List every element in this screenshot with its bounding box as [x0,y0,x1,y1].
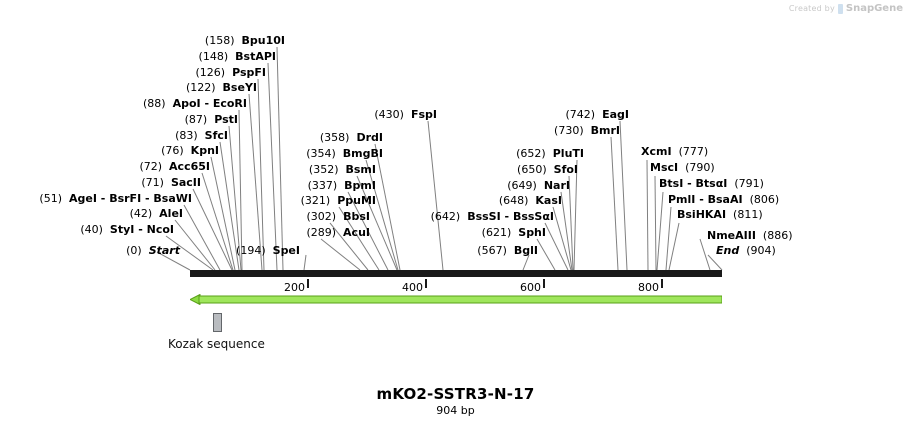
site-position: (790) [685,161,715,174]
site-label-bpmi[interactable]: (337)BpmI [308,180,376,192]
enzyme-name: BsmI [346,163,377,176]
enzyme-name: SphI [518,226,546,239]
site-label-bsmi[interactable]: (352)BsmI [309,164,376,176]
enzyme-name: NcoI [147,223,174,236]
site-label-pspfi[interactable]: (126)PspFI [196,67,267,79]
site-label-start[interactable]: (0)Start [126,245,180,257]
site-position: (0) [126,244,142,257]
site-position: (148) [199,50,229,63]
site-label-bstapi[interactable]: (148)BstAPI [199,51,276,63]
site-label-btsi-btsai[interactable]: BtsI - BtsαI(791) [659,178,764,190]
enzyme-name: SacII [171,176,201,189]
site-label-nmeaiii[interactable]: NmeAIII(886) [707,230,793,242]
enzyme-name: PspFI [232,66,266,79]
site-position: (51) [39,192,62,205]
enzyme-separator: - [141,192,153,205]
site-position: (886) [763,229,793,242]
site-position: (354) [306,147,336,160]
ruler-label-200: 200 [284,281,305,294]
enzyme-name: PmlI [668,193,695,206]
site-position: (358) [320,131,350,144]
end-marker-label: End [716,244,739,257]
enzyme-separator: - [683,177,695,190]
enzyme-name: BpmI [344,179,376,192]
enzyme-separator: - [695,193,707,206]
watermark-brand: SnapGene [846,3,903,14]
site-position: (72) [139,160,162,173]
enzyme-name: EagI [602,108,629,121]
site-label-agei-bsrfi-bsawi[interactable]: (51)AgeI - BsrFI - BsaWI [39,193,192,205]
enzyme-name: BmgBI [343,147,383,160]
ruler-label-400: 400 [402,281,423,294]
start-marker-label: Start [149,244,180,257]
site-position: (42) [130,207,153,220]
enzyme-name: BmrI [591,124,620,137]
site-label-styi-ncoi[interactable]: (40)StyI - NcoI [80,224,174,236]
site-label-pluti[interactable]: (652)PluTI [516,148,584,160]
site-label-bbsi[interactable]: (302)BbsI [307,211,371,223]
enzyme-name: FspI [411,108,437,121]
ruler-label-600: 600 [520,281,541,294]
site-position: (430) [374,108,404,121]
site-label-alei[interactable]: (42)AleI [130,208,183,220]
sequence-map-canvas: Created by SnapGene [0,0,911,426]
ruler-label-800: 800 [638,281,659,294]
enzyme-name: DrdI [356,131,383,144]
enzyme-name: AleI [159,207,183,220]
kozak-sequence-feature[interactable] [213,313,222,332]
enzyme-name: BglI [514,244,538,257]
site-position: (83) [175,129,198,142]
kozak-sequence-label: Kozak sequence [168,337,265,351]
site-position: (621) [482,226,512,239]
enzyme-name: MscI [650,161,678,174]
enzyme-name: NmeAIII [707,229,756,242]
site-label-msci[interactable]: MscI(790) [650,162,715,174]
ruler-tick-800 [661,279,663,288]
site-position: (87) [185,113,208,126]
enzyme-name: BstAPI [235,50,276,63]
ruler-tick-600 [543,279,545,288]
site-position: (811) [733,208,763,221]
enzyme-name: SfcI [205,129,228,142]
site-position: (71) [141,176,164,189]
site-position: (648) [499,194,529,207]
enzyme-separator: - [97,192,109,205]
site-label-bsihkai[interactable]: BsiHKAI(811) [677,209,763,221]
site-label-xcmi[interactable]: XcmI(777) [641,146,708,158]
enzyme-separator: - [134,223,146,236]
site-position: (730) [554,124,584,137]
site-label-kasi[interactable]: (648)KasI [499,195,562,207]
site-label-sfoi[interactable]: (650)SfoI [517,164,578,176]
enzyme-name: NarI [544,179,570,192]
site-label-end[interactable]: End(904) [716,245,776,257]
orf-arrow[interactable] [190,294,722,305]
enzyme-name: PstI [214,113,238,126]
enzyme-name: BtsI [659,177,683,190]
enzyme-name: KasI [535,194,562,207]
enzyme-name: PluTI [553,147,584,160]
site-position: (642) [431,210,461,223]
enzyme-name: BsaWI [153,192,192,205]
site-position: (904) [746,244,776,257]
enzyme-name: XcmI [641,145,672,158]
site-label-apoi-ecori[interactable]: (88)ApoI - EcoRI [143,98,247,110]
enzyme-name: Bpu10I [242,34,286,47]
enzyme-name: BsiHKAI [677,208,726,221]
enzyme-name: BtsαI [696,177,728,190]
site-position: (650) [517,163,547,176]
site-position: (337) [308,179,338,192]
site-label-bgli[interactable]: (567)BglI [477,245,538,257]
enzyme-name: BseYI [223,81,257,94]
site-label-drdi[interactable]: (358)DrdI [320,132,383,144]
enzyme-name: BsrFI [109,192,141,205]
enzyme-separator: - [201,97,213,110]
enzyme-name: StyI [110,223,134,236]
enzyme-name: BsaAI [708,193,743,206]
snapgene-watermark: Created by SnapGene [789,3,903,14]
site-position: (321) [301,194,331,207]
site-label-bmri[interactable]: (730)BmrI [554,125,620,137]
site-position: (302) [307,210,337,223]
site-label-sacii[interactable]: (71)SacII [141,177,201,189]
site-label-bseyi[interactable]: (122)BseYI [186,82,257,94]
site-label-ppumi[interactable]: (321)PpuMI [301,195,376,207]
snapgene-logo-icon [838,4,843,14]
site-label-kpni[interactable]: (76)KpnI [161,145,219,157]
site-position: (76) [161,144,184,157]
site-label-sfci[interactable]: (83)SfcI [175,130,228,142]
site-position: (122) [186,81,216,94]
site-label-spei[interactable]: (194)SpeI [236,245,300,257]
site-position: (791) [734,177,764,190]
site-position: (777) [679,145,709,158]
enzyme-name: AgeI [69,192,97,205]
site-position: (40) [80,223,103,236]
site-position: (289) [306,226,336,239]
site-position: (194) [236,244,266,257]
site-label-pmli-bsaai[interactable]: PmlI - BsaAI(806) [668,194,779,206]
site-position: (158) [205,34,235,47]
enzyme-name: PpuMI [337,194,376,207]
site-label-bpu10i[interactable]: (158)Bpu10I [205,35,285,47]
site-label-bsssi-bsssai[interactable]: (642)BssSI - BssSαI [431,211,554,223]
site-label-sphi[interactable]: (621)SphI [482,227,546,239]
site-position: (742) [566,108,596,121]
enzyme-name: SfoI [554,163,578,176]
enzyme-name: KpnI [191,144,219,157]
site-label-fspi[interactable]: (430)FspI [374,109,437,121]
map-length-label: 904 bp [0,404,911,417]
site-position: (352) [309,163,339,176]
site-position: (126) [196,66,226,79]
site-position: (649) [507,179,537,192]
site-label-bmgbi[interactable]: (354)BmgBI [306,148,383,160]
enzyme-name: SpeI [273,244,300,257]
site-label-psti[interactable]: (87)PstI [185,114,238,126]
site-position: (652) [516,147,546,160]
site-label-acc65i[interactable]: (72)Acc65I [139,161,210,173]
ruler-tick-200 [307,279,309,288]
site-label-nari[interactable]: (649)NarI [507,180,570,192]
ruler-tick-400 [425,279,427,288]
sequence-backbone-bar[interactable] [190,270,722,277]
site-position: (806) [750,193,780,206]
map-title: mKO2-SSTR3-N-17 [0,385,911,403]
site-label-acui[interactable]: (289)AcuI [306,227,370,239]
enzyme-name: BbsI [343,210,370,223]
enzyme-name: BssSαI [513,210,554,223]
enzyme-name: ApoI [173,97,201,110]
enzyme-name: BssSI [467,210,501,223]
enzyme-name: AcuI [343,226,370,239]
site-label-eagi[interactable]: (742)EagI [566,109,630,121]
site-position: (88) [143,97,166,110]
enzyme-name: Acc65I [169,160,210,173]
site-position: (567) [477,244,507,257]
enzyme-name: EcoRI [213,97,247,110]
watermark-prefix: Created by [789,4,835,13]
enzyme-separator: - [501,210,513,223]
